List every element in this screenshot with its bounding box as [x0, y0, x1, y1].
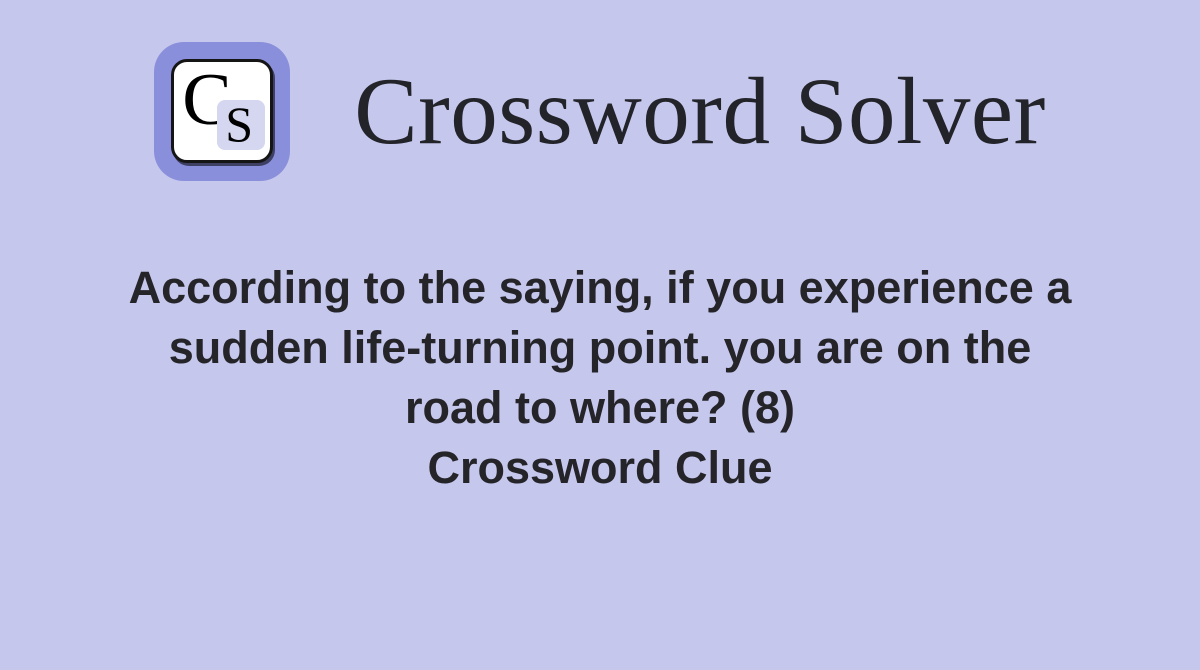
clue-line-1: According to the saying, if you experien… — [90, 258, 1110, 318]
site-title: Crossword Solver — [354, 61, 1045, 161]
logo-letter-s: S — [225, 99, 253, 149]
logo-inner-tile: C S — [171, 59, 273, 163]
page-subtitle: Crossword Clue — [75, 438, 1125, 498]
crossword-solver-logo[interactable]: C S — [154, 42, 290, 181]
site-header: C S Crossword Solver — [0, 36, 1200, 186]
clue-line-2: sudden life-turning point. you are on th… — [90, 318, 1110, 378]
page-root: C S Crossword Solver According to the sa… — [0, 0, 1200, 670]
clue-line-3: road to where? (8) — [90, 378, 1110, 438]
clue-block: According to the saying, if you experien… — [75, 258, 1125, 498]
